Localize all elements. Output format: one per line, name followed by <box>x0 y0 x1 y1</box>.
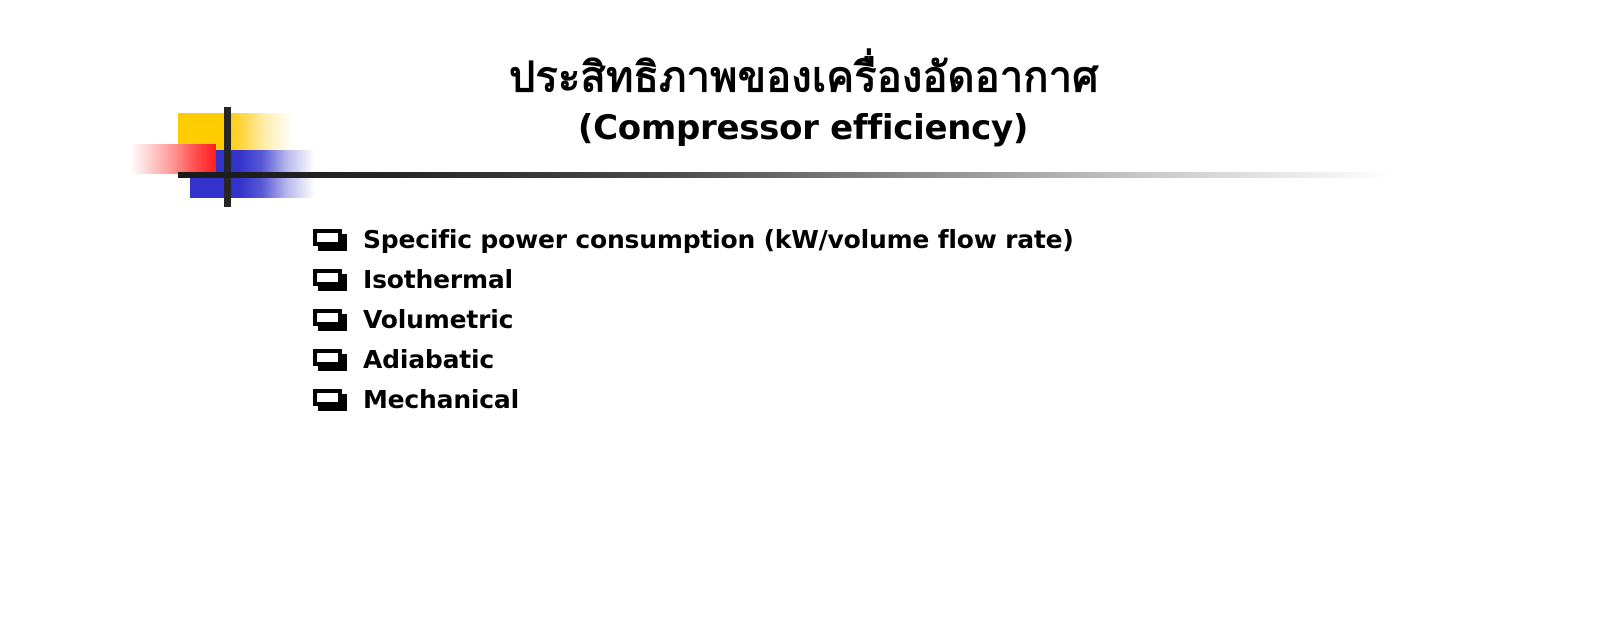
square-bullet-icon <box>313 389 347 411</box>
list-item: Volumetric <box>313 300 1413 340</box>
slide-canvas: ประสิทธิภาพของเครื่องอัดอากาศ (Compresso… <box>0 0 1600 640</box>
efficiency-bullet-list: Specific power consumption (kW/volume fl… <box>313 220 1413 420</box>
list-item: Mechanical <box>313 380 1413 420</box>
list-item: Adiabatic <box>313 340 1413 380</box>
list-item: Specific power consumption (kW/volume fl… <box>313 220 1413 260</box>
page-title-thai: ประสิทธิภาพของเครื่องอัดอากาศ <box>0 52 1600 102</box>
list-item-label: Mechanical <box>363 386 519 414</box>
list-item-label: Volumetric <box>363 306 513 334</box>
list-item-label: Adiabatic <box>363 346 494 374</box>
square-bullet-icon <box>313 349 347 371</box>
header-divider-rule <box>178 172 1393 178</box>
list-item: Isothermal <box>313 260 1413 300</box>
square-bullet-icon <box>313 229 347 251</box>
page-title-block: ประสิทธิภาพของเครื่องอัดอากาศ (Compresso… <box>0 52 1600 154</box>
list-item-label: Isothermal <box>363 266 513 294</box>
square-bullet-icon <box>313 269 347 291</box>
list-item-label: Specific power consumption (kW/volume fl… <box>363 226 1074 254</box>
square-bullet-icon <box>313 309 347 331</box>
page-subtitle-english: (Compressor efficiency) <box>0 102 1600 154</box>
